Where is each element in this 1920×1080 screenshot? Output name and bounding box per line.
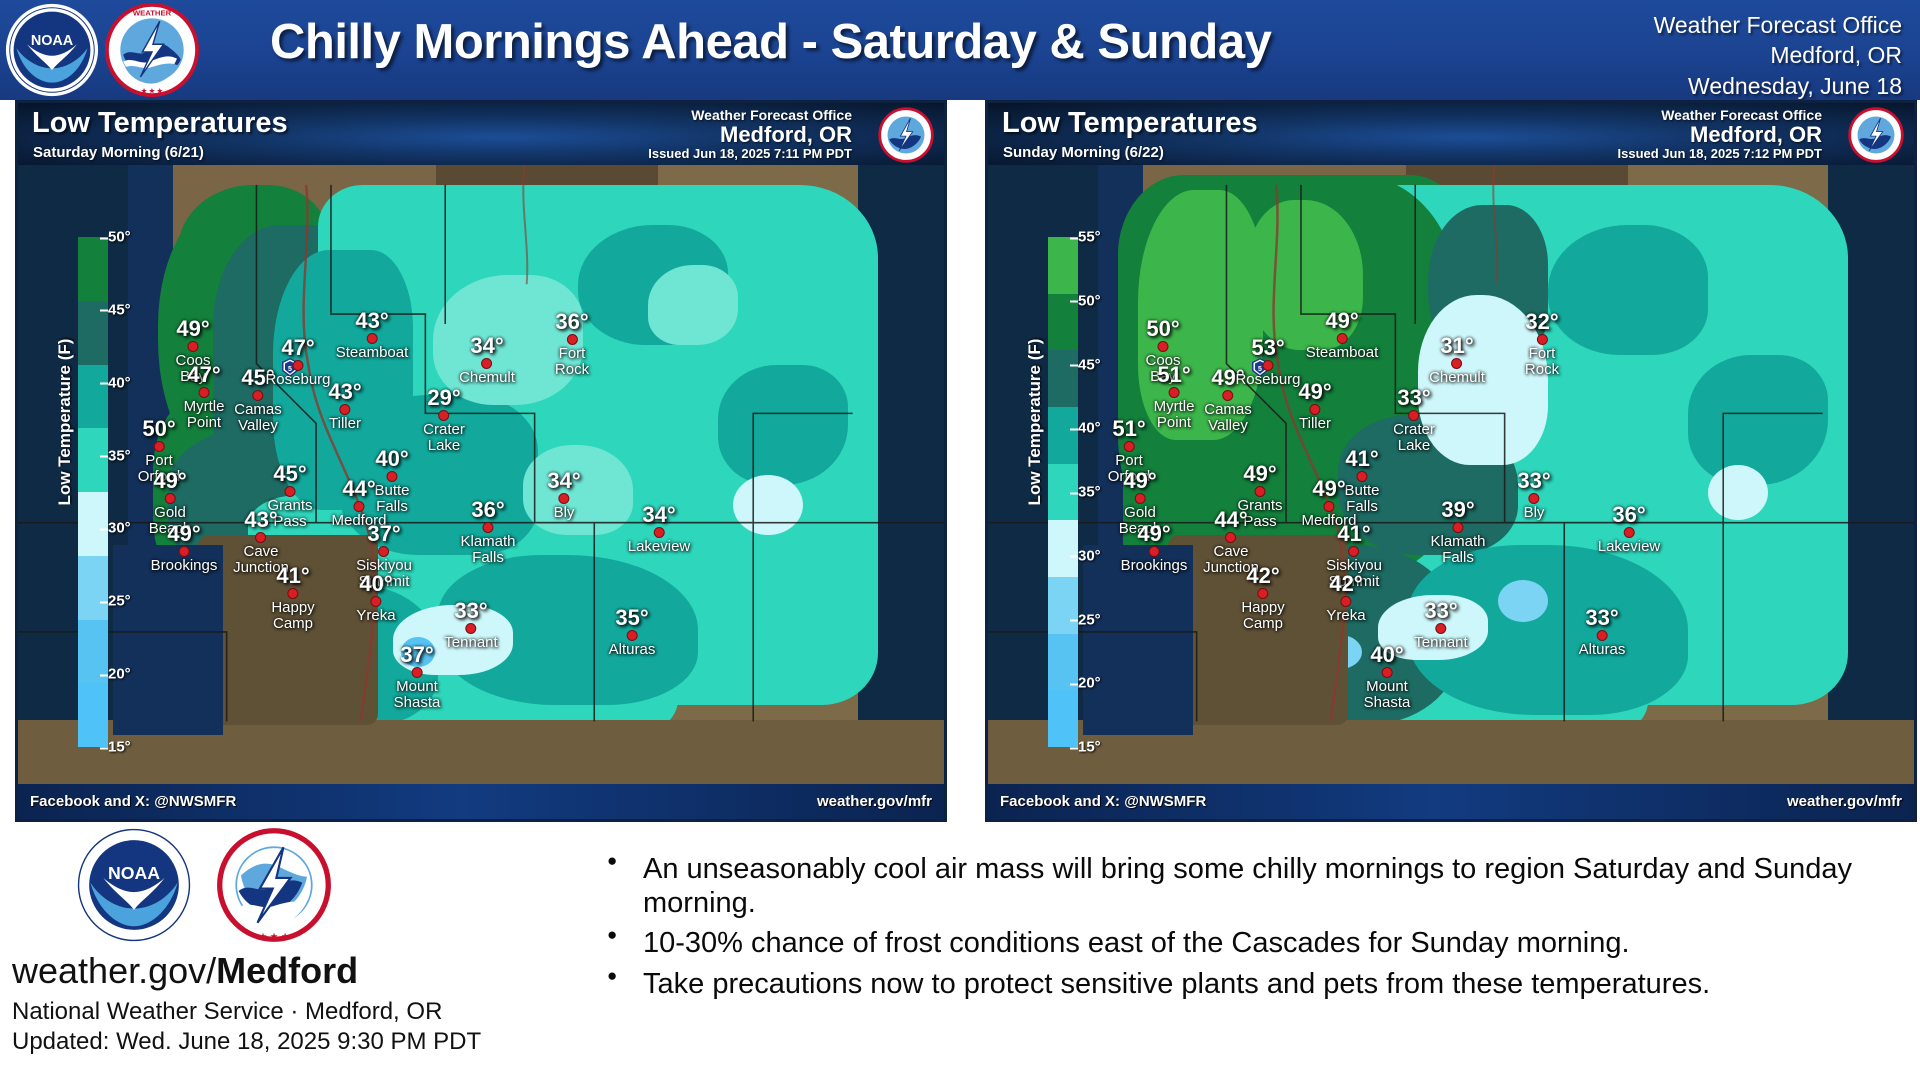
colorbar-segment: [78, 365, 108, 429]
footer-url: weather.gov/Medford: [12, 950, 358, 992]
map-issued-time: Issued Jun 18, 2025 7:12 PM PDT: [1618, 146, 1822, 161]
colorbar-tick-label: 20°: [1078, 675, 1101, 692]
footer-office: National Weather Service · Medford, OR: [12, 998, 442, 1026]
colorbar-tick-label: 25°: [1078, 611, 1101, 628]
colorbar-tick-label: 45°: [1078, 356, 1101, 373]
footer-url-prefix: weather.gov/: [12, 950, 216, 991]
page-header: NOAA WEATHER ★ ★ ★ Chilly Mornings Ahead…: [0, 0, 1920, 100]
map-wfo-line1: Weather Forecast Office: [648, 107, 852, 123]
bullet-item: An unseasonably cool air mass will bring…: [595, 852, 1905, 920]
colorbar-tick-label: 50°: [108, 229, 131, 246]
map-wfo-line2: Medford, OR: [648, 123, 852, 146]
colorbar-sunday: Low Temperature (F) 55°50°45°40°35°30°25…: [1002, 237, 1122, 747]
map-canvas[interactable]: 5 Low Temperature (F) 55°50°45°40°35°30°…: [988, 165, 1914, 790]
map-canvas[interactable]: 5 Low Temperature (F) 50°45°40°35°30°25°…: [18, 165, 944, 790]
map-issued-time: Issued Jun 18, 2025 7:11 PM PDT: [648, 146, 852, 161]
map-wfo-line2: Medford, OR: [1618, 123, 1822, 146]
header-office-line2: Medford, OR: [1654, 40, 1902, 70]
map-panel-saturday[interactable]: Low Temperatures Saturday Morning (6/21)…: [15, 100, 947, 822]
colorbar-saturday: Low Temperature (F) 50°45°40°35°30°25°20…: [32, 237, 152, 747]
colorbar-tick-label: 40°: [1078, 420, 1101, 437]
bullet-item: Take precautions now to protect sensitiv…: [595, 967, 1905, 1001]
colorbar-segment: [1048, 520, 1078, 577]
map-title: Low Temperatures: [1002, 107, 1258, 140]
colorbar-tick-label: 35°: [108, 447, 131, 464]
map-title: Low Temperatures: [32, 107, 288, 140]
map-website: weather.gov/mfr: [817, 793, 932, 810]
colorbar-segment: [1048, 577, 1078, 634]
nws-logo: ★ ★ ★: [215, 826, 333, 944]
colorbar-segment: [78, 556, 108, 620]
colorbar-segment: [78, 492, 108, 556]
colorbar-tick-label: 50°: [1078, 292, 1101, 309]
map-wfo-line1: Weather Forecast Office: [1618, 107, 1822, 123]
colorbar-tick-label: 25°: [108, 593, 131, 610]
bottom-section: NOAA ★ ★ ★ weather.gov/Medford National …: [0, 822, 1920, 1080]
colorbar-tick-label: 30°: [108, 520, 131, 537]
svg-text:★ ★ ★: ★ ★ ★: [141, 87, 164, 95]
colorbar-tick-label: 40°: [108, 374, 131, 391]
interstate-5-shield-icon: 5: [282, 358, 298, 377]
svg-text:WEATHER: WEATHER: [133, 8, 172, 17]
header-office-line3: Wednesday, June 18: [1654, 71, 1902, 101]
colorbar-tick-label: 45°: [108, 301, 131, 318]
colorbar-segment: [78, 237, 108, 301]
colorbar-axis-label: Low Temperature (F): [55, 327, 75, 517]
svg-text:5: 5: [1258, 366, 1262, 373]
colorbar-ticks: 55°50°45°40°35°30°25°20°15°: [1078, 237, 1138, 747]
svg-text:5: 5: [288, 366, 292, 373]
svg-text:★ ★ ★: ★ ★ ★: [259, 930, 290, 941]
colorbar-segment: [1048, 350, 1078, 407]
colorbar-axis-label: Low Temperature (F): [1025, 327, 1045, 517]
map-titlebar: Low Temperatures Sunday Morning (6/22) W…: [988, 103, 1914, 165]
footer-updated: Updated: Wed. June 18, 2025 9:30 PM PDT: [12, 1028, 481, 1056]
colorbar-segment: [78, 683, 108, 747]
svg-text:NOAA: NOAA: [108, 863, 160, 883]
map-footer: Facebook and X: @NWSMFR weather.gov/mfr: [988, 784, 1914, 819]
noaa-logo: NOAA: [75, 826, 193, 944]
svg-text:NOAA: NOAA: [31, 33, 74, 49]
page-title: Chilly Mornings Ahead - Saturday & Sunda…: [270, 14, 1310, 70]
bullet-item: 10-30% chance of frost conditions east o…: [595, 926, 1905, 960]
nws-seal-icon: [1848, 107, 1904, 163]
colorbar-segment: [1048, 690, 1078, 747]
map-website: weather.gov/mfr: [1787, 793, 1902, 810]
map-wfo-info: Weather Forecast Office Medford, OR Issu…: [648, 107, 852, 161]
header-office-info: Weather Forecast Office Medford, OR Wedn…: [1654, 10, 1902, 101]
map-footer: Facebook and X: @NWSMFR weather.gov/mfr: [18, 784, 944, 819]
colorbar-tick-label: 20°: [108, 666, 131, 683]
map-wfo-info: Weather Forecast Office Medford, OR Issu…: [1618, 107, 1822, 161]
map-subtitle: Saturday Morning (6/21): [33, 144, 204, 161]
noaa-logo: NOAA: [4, 2, 100, 98]
footer-logos: NOAA ★ ★ ★: [75, 826, 333, 944]
colorbar-tick-label: 30°: [1078, 547, 1101, 564]
colorbar-gradient: [78, 237, 108, 747]
colorbar-segment: [1048, 237, 1078, 294]
colorbar-ticks: 50°45°40°35°30°25°20°15°: [108, 237, 168, 747]
colorbar-tick-label: 55°: [1078, 229, 1101, 246]
nws-seal-icon: [878, 107, 934, 163]
map-panel-sunday[interactable]: Low Temperatures Sunday Morning (6/22) W…: [985, 100, 1917, 822]
map-titlebar: Low Temperatures Saturday Morning (6/21)…: [18, 103, 944, 165]
map-social-handle: Facebook and X: @NWSMFR: [1000, 793, 1206, 810]
interstate-5-shield-icon: 5: [1252, 358, 1268, 377]
bullet-list: An unseasonably cool air mass will bring…: [595, 852, 1905, 1007]
nws-logo: WEATHER ★ ★ ★: [104, 2, 200, 98]
header-office-line1: Weather Forecast Office: [1654, 10, 1902, 40]
header-logos: NOAA WEATHER ★ ★ ★: [4, 2, 200, 98]
colorbar-tick-label: 35°: [1078, 484, 1101, 501]
colorbar-tick-label: 15°: [1078, 739, 1101, 756]
map-subtitle: Sunday Morning (6/22): [1003, 144, 1164, 161]
map-social-handle: Facebook and X: @NWSMFR: [30, 793, 236, 810]
colorbar-segment: [1048, 407, 1078, 464]
footer-url-bold: Medford: [216, 950, 358, 991]
colorbar-segment: [78, 428, 108, 492]
colorbar-segment: [1048, 634, 1078, 691]
colorbar-tick-label: 15°: [108, 739, 131, 756]
